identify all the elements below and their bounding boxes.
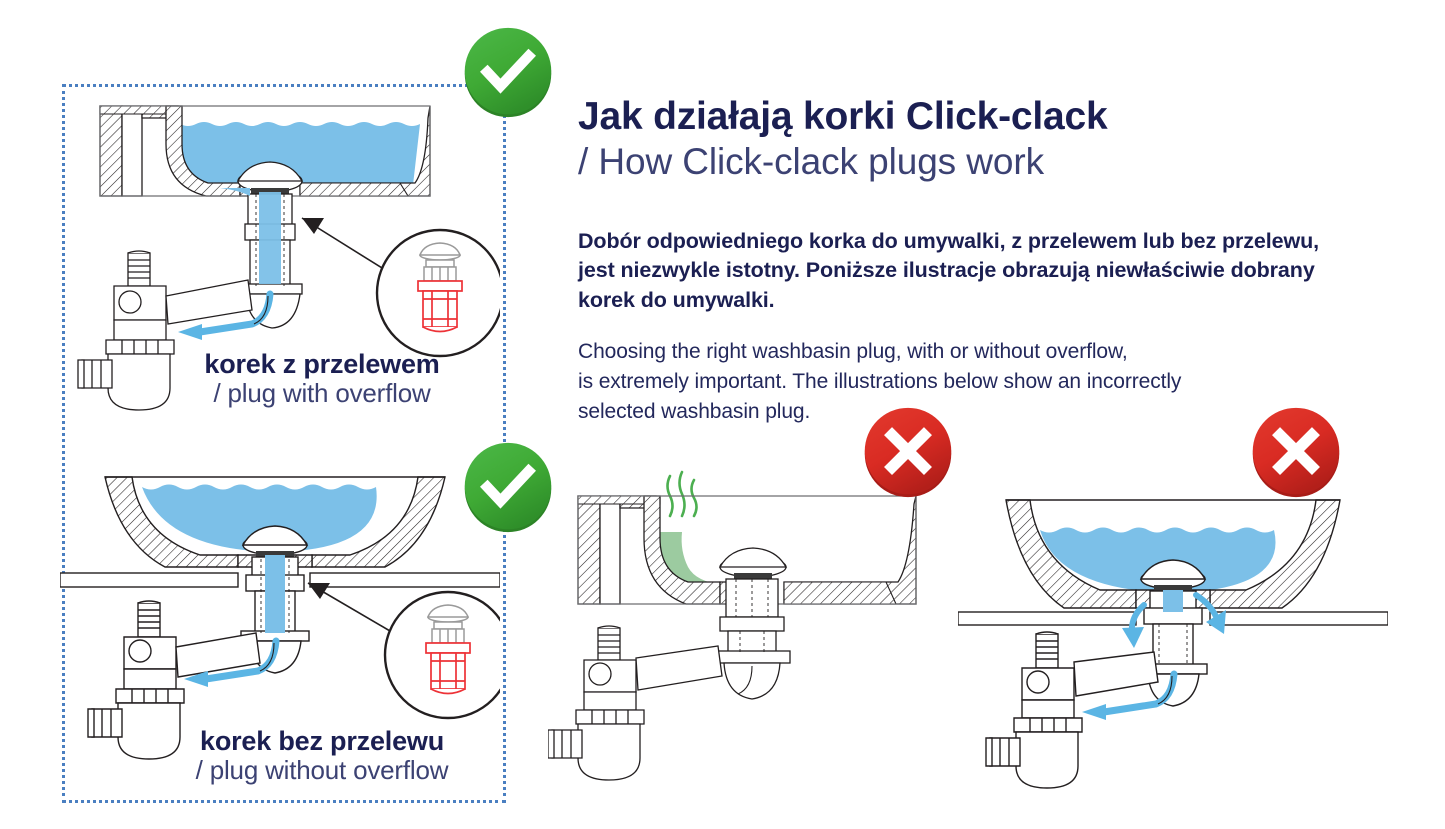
intro-en-line-3: selected washbasin plug. [578,397,1423,427]
illustration-overflow-basin-wrong-plug-odour [548,460,968,810]
intro-paragraph-polish: Dobór odpowiedniego korka do umywalki, z… [578,227,1423,316]
illustration-no-overflow-basin-wrong-plug-leak [958,462,1388,812]
caption-nooverflow-english: / plug without overflow [157,756,487,786]
intro-pl-line-1: Dobór odpowiedniego korka do umywalki, z… [578,227,1423,257]
title-polish: Jak działają korki Click-clack [578,96,1428,138]
intro-pl-line-3: korek do umywalki. [578,286,1423,316]
status-badge-correct-bottom [461,440,555,534]
intro-paragraph-english: Choosing the right washbasin plug, with … [578,337,1423,426]
caption-nooverflow-polish: korek bez przelewu [157,726,487,756]
title-english: / How Click-clack plugs work [578,141,1428,182]
caption-plug-with-overflow: korek z przelewem / plug with overflow [157,349,487,409]
infographic-page: Jak działają korki Click-clack / How Cli… [0,0,1445,829]
caption-overflow-english: / plug with overflow [157,379,487,409]
intro-text: Dobór odpowiedniego korka do umywalki, z… [578,205,1423,447]
caption-overflow-polish: korek z przelewem [157,349,487,379]
intro-pl-line-2: jest niezwykle istotny. Poniższe ilustra… [578,256,1423,286]
intro-en-line-2: is extremely important. The illustration… [578,367,1423,397]
page-title: Jak działają korki Click-clack / How Cli… [578,96,1428,183]
intro-en-line-1: Choosing the right washbasin plug, with … [578,337,1423,367]
status-badge-correct-top [461,25,555,119]
caption-plug-without-overflow: korek bez przelewu / plug without overfl… [157,726,487,786]
